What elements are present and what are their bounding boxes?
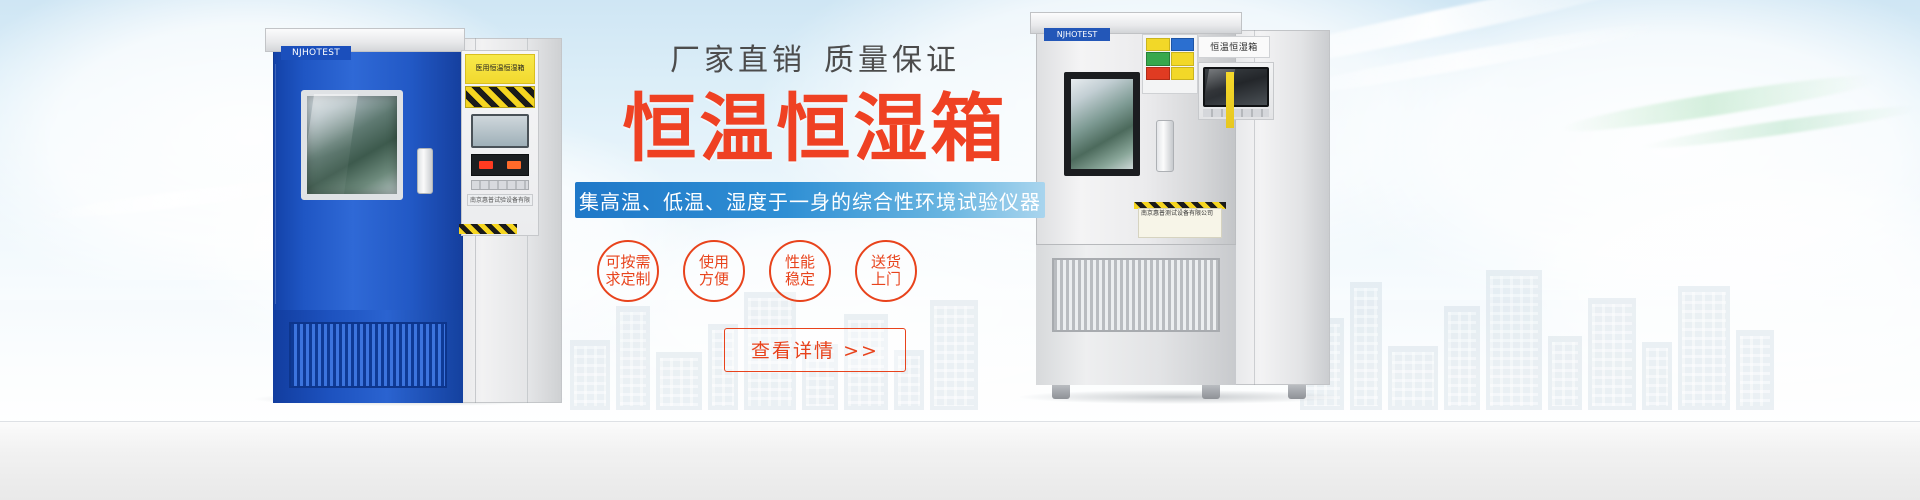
led-indicator bbox=[507, 161, 521, 169]
view-details-button[interactable]: 查看详情 >> bbox=[724, 328, 906, 372]
warning-sticker bbox=[1146, 38, 1170, 51]
left-machine-brand-logo: NJHOTEST bbox=[281, 46, 351, 60]
right-machine-door-handle bbox=[1156, 120, 1174, 172]
promo-banner: NJHOTEST 医用恒温恒湿箱 南京惠普试验设备有限公司 NJHOTEST bbox=[0, 0, 1920, 500]
left-machine-spec-plate: 南京惠普试验设备有限公司 bbox=[467, 194, 533, 206]
right-machine-spec-plate: 南京惠普测试设备有限公司 bbox=[1138, 208, 1222, 238]
badge-line-1: 可按需 bbox=[605, 254, 650, 271]
cta-container: 查看详情 >> bbox=[575, 328, 1055, 372]
product-image-right-chamber: NJHOTEST 恒温恒湿箱 南京惠普测试设备有限公司 bbox=[1030, 12, 1330, 404]
left-machine-hazard-stripe bbox=[459, 224, 517, 234]
feature-badge-custom[interactable]: 可按需 求定制 bbox=[597, 240, 659, 302]
banner-subtitle-bar: 集高温、低温、湿度于一身的综合性环境试验仪器 bbox=[575, 182, 1045, 218]
warning-sticker bbox=[1146, 67, 1170, 80]
left-machine-led-readout bbox=[471, 154, 529, 176]
product-image-left-chamber: NJHOTEST 医用恒温恒湿箱 南京惠普试验设备有限公司 bbox=[265, 28, 565, 403]
feature-badge-stable[interactable]: 性能 稳定 bbox=[769, 240, 831, 302]
left-machine-button-row bbox=[471, 180, 529, 190]
warning-sticker bbox=[1146, 52, 1170, 65]
right-machine-door-window bbox=[1064, 72, 1140, 176]
right-machine-foot bbox=[1052, 385, 1070, 399]
badge-line-2: 求定制 bbox=[605, 271, 650, 288]
right-machine-brand-logo: NJHOTEST bbox=[1044, 28, 1110, 41]
ground-surface bbox=[0, 422, 1920, 500]
left-machine-vent-grille bbox=[289, 322, 447, 388]
feature-badge-delivery[interactable]: 送货 上门 bbox=[855, 240, 917, 302]
warning-sticker bbox=[1171, 52, 1195, 65]
right-machine-name-plate: 恒温恒湿箱 bbox=[1198, 36, 1270, 58]
feature-badge-easy-use[interactable]: 使用 方便 bbox=[683, 240, 745, 302]
left-machine-door-handle bbox=[417, 148, 433, 194]
banner-headline: 恒温恒湿箱 bbox=[575, 92, 1055, 166]
right-machine-foot bbox=[1202, 385, 1220, 399]
left-machine-display-screen bbox=[471, 114, 529, 148]
tagline-part-1: 厂家直销 bbox=[670, 43, 806, 78]
led-indicator bbox=[479, 161, 493, 169]
left-machine-door-seam bbox=[275, 64, 276, 304]
badge-line-2: 稳定 bbox=[785, 271, 815, 288]
badge-line-1: 性能 bbox=[785, 254, 815, 271]
right-machine-warning-stickers bbox=[1146, 38, 1194, 80]
left-machine-hazard-stripe bbox=[465, 86, 535, 108]
feature-badge-list: 可按需 求定制 使用 方便 性能 稳定 送货 上门 bbox=[575, 240, 1055, 302]
banner-tagline: 厂家直销质量保证 bbox=[575, 46, 1055, 76]
warning-sticker bbox=[1171, 38, 1195, 51]
warning-sticker bbox=[1171, 67, 1195, 80]
badge-line-1: 使用 bbox=[699, 254, 729, 271]
left-machine-panel-label: 医用恒温恒湿箱 bbox=[465, 54, 535, 84]
banner-copy-block: 厂家直销质量保证 恒温恒湿箱 集高温、低温、湿度于一身的综合性环境试验仪器 可按… bbox=[575, 46, 1055, 372]
badge-line-2: 方便 bbox=[699, 271, 729, 288]
badge-line-2: 上门 bbox=[871, 271, 901, 288]
banner-subtitle-text: 集高温、低温、湿度于一身的综合性环境试验仪器 bbox=[579, 186, 1041, 215]
right-machine-button-row bbox=[1203, 109, 1269, 117]
right-machine-foot bbox=[1288, 385, 1306, 399]
right-machine-vent-grille bbox=[1052, 258, 1220, 332]
tagline-part-2: 质量保证 bbox=[824, 43, 960, 78]
right-machine-yellow-strip bbox=[1226, 72, 1234, 128]
badge-line-1: 送货 bbox=[871, 254, 901, 271]
